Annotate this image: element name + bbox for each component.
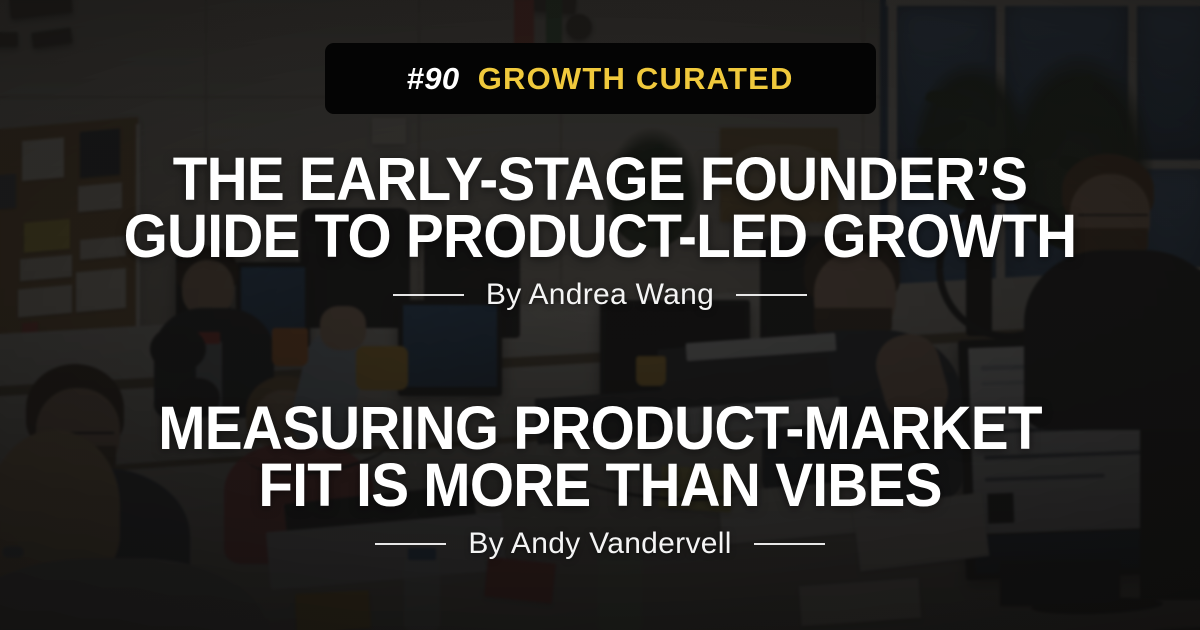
story-2-byline: By Andy Vandervell <box>468 527 731 561</box>
headline-line: MEASURING PRODUCT-MARKET <box>42 400 1158 457</box>
issue-number: #90 <box>406 61 459 97</box>
story-2-byline-row: By Andy Vandervell <box>0 527 1200 561</box>
divider-rule-right <box>754 543 825 545</box>
divider-rule-left <box>393 294 464 296</box>
headline-line: THE EARLY-STAGE FOUNDER’S <box>42 151 1158 208</box>
newsletter-hero-card: #90 GROWTH CURATED THE EARLY-STAGE FOUND… <box>0 0 1200 630</box>
story-1-byline-row: By Andrea Wang <box>0 278 1200 312</box>
newsletter-name: GROWTH CURATED <box>478 61 794 97</box>
story-1-headline: THE EARLY-STAGE FOUNDER’S GUIDE TO PRODU… <box>42 151 1158 265</box>
story-secondary: MEASURING PRODUCT-MARKET FIT IS MORE THA… <box>0 400 1200 561</box>
issue-badge: #90 GROWTH CURATED <box>325 43 876 114</box>
divider-rule-left <box>375 543 446 545</box>
hero-content: #90 GROWTH CURATED THE EARLY-STAGE FOUND… <box>0 0 1200 630</box>
divider-rule-right <box>736 294 807 296</box>
headline-line: FIT IS MORE THAN VIBES <box>42 457 1158 514</box>
story-1-byline: By Andrea Wang <box>486 278 714 312</box>
story-2-headline: MEASURING PRODUCT-MARKET FIT IS MORE THA… <box>42 400 1158 514</box>
headline-line: GUIDE TO PRODUCT-LED GROWTH <box>42 208 1158 265</box>
story-primary: THE EARLY-STAGE FOUNDER’S GUIDE TO PRODU… <box>0 151 1200 312</box>
